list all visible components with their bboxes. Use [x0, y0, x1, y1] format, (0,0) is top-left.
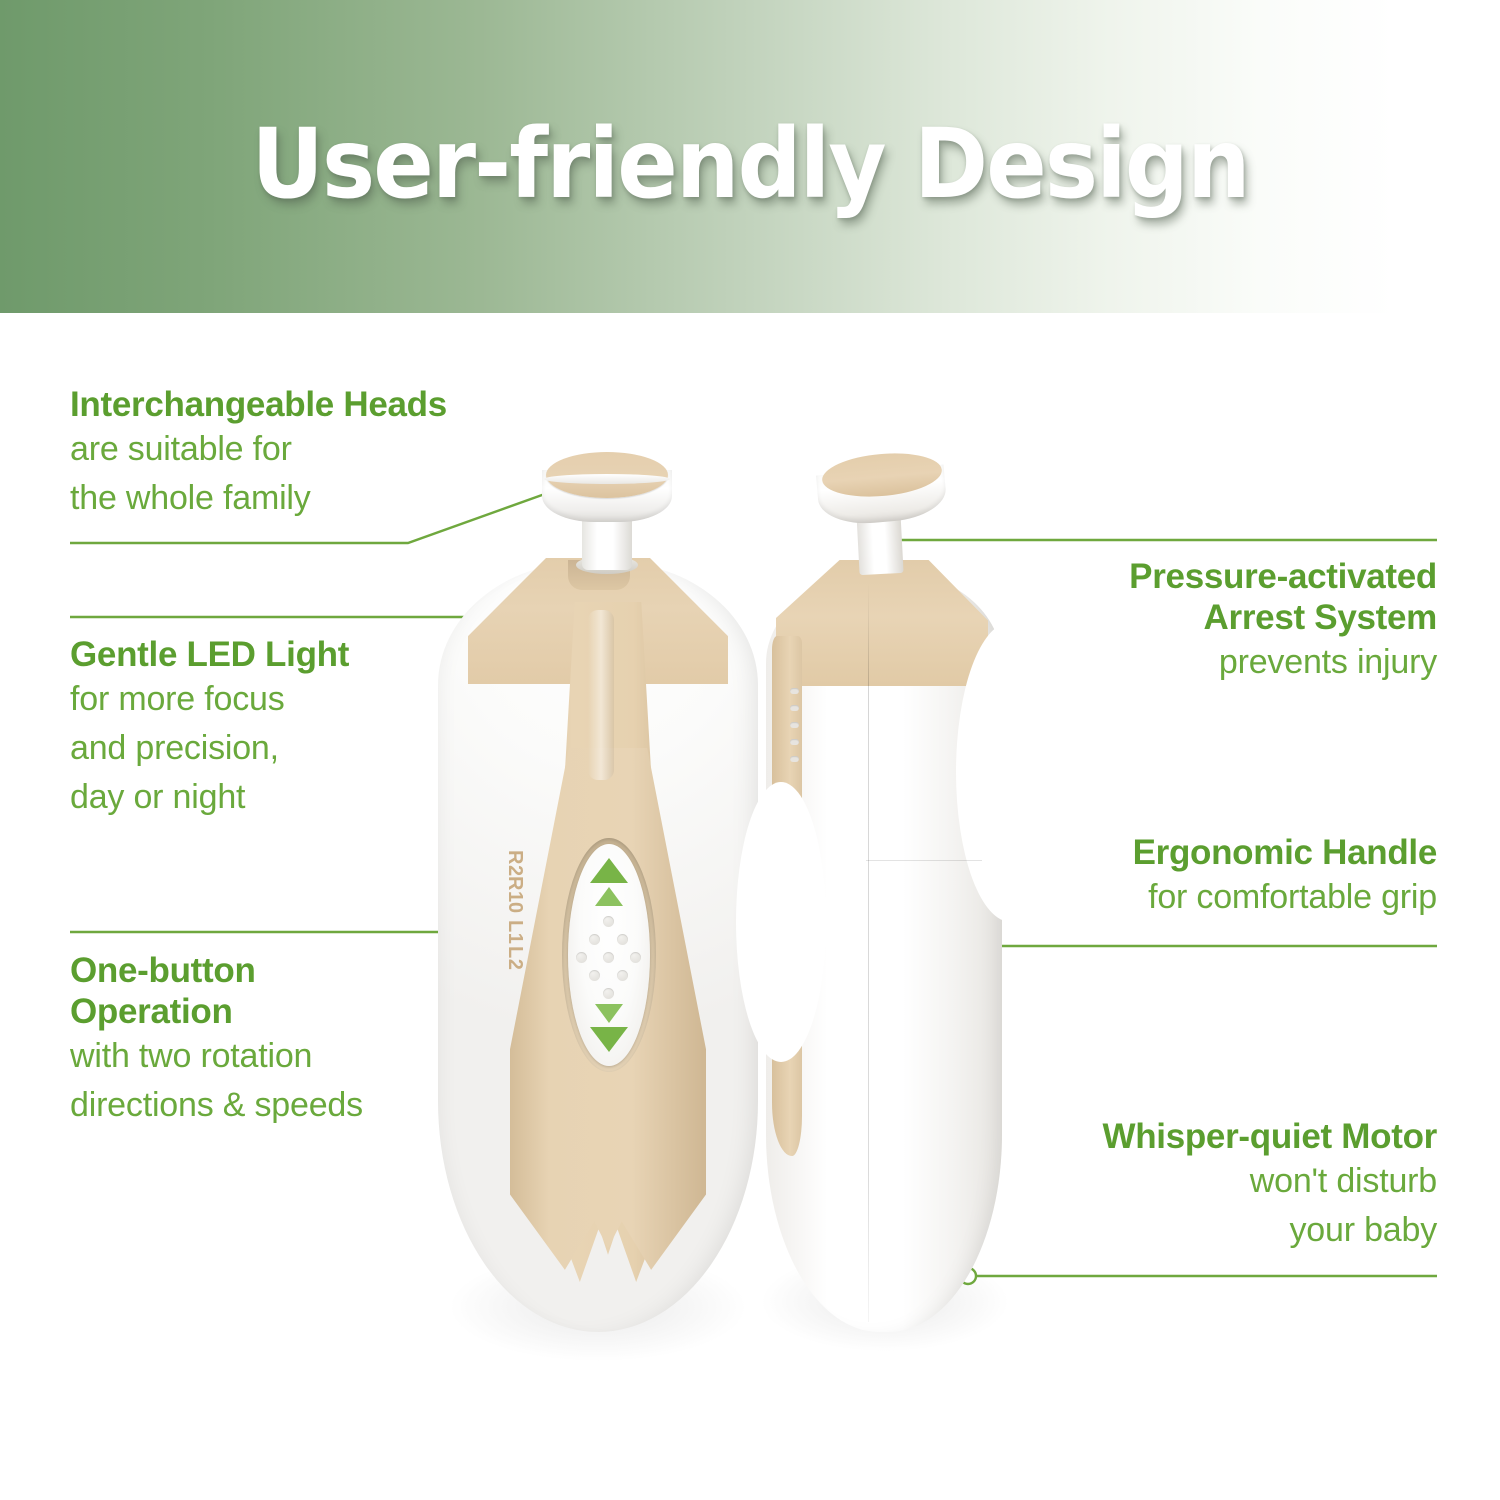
- callout-heading-line: Gentle LED Light: [70, 634, 349, 675]
- callout-interchangeable-heads: Interchangeable Heads are suitable for t…: [70, 384, 447, 523]
- side-split-line: [866, 860, 982, 861]
- callout-body-line: with two rotation: [70, 1032, 363, 1081]
- speed-label-l1: L1: [503, 920, 526, 944]
- callout-body-line: and precision,: [70, 724, 349, 773]
- button-dimple: [630, 952, 641, 963]
- button-dimple: [617, 934, 628, 945]
- indicator-dot: [790, 688, 799, 694]
- speed-label-r2: R2: [503, 850, 526, 877]
- callout-body-line: the whole family: [70, 474, 447, 523]
- power-speed-button[interactable]: [568, 844, 650, 1066]
- button-dimple: [576, 952, 587, 963]
- indicator-dot: [790, 722, 799, 728]
- speed-label-l2: L2: [503, 946, 526, 970]
- page-title: User-friendly Design: [53, 108, 1448, 220]
- callout-gentle-led-light: Gentle LED Light for more focus and prec…: [70, 634, 349, 822]
- product-front-view: R2 R1 0 L1 L2: [438, 452, 758, 1332]
- indicator-dot: [790, 739, 799, 745]
- callout-body-line: are suitable for: [70, 425, 447, 474]
- arrow-up-large-icon[interactable]: [590, 858, 628, 883]
- side-waist-curve-right: [956, 622, 1066, 922]
- infographic-canvas: User-friendly Design R2 R1 0 L1 L2: [0, 0, 1500, 1500]
- callout-whisper-quiet-motor: Whisper-quiet Motor won't disturb your b…: [937, 1116, 1437, 1255]
- speed-label-0: 0: [503, 902, 526, 914]
- side-seam-line: [868, 582, 869, 1322]
- callout-body-line: won't disturb: [937, 1157, 1437, 1206]
- side-waist-curve-left: [736, 782, 826, 1062]
- callout-heading-line: Operation: [70, 991, 363, 1032]
- callout-one-button-operation: One-button Operation with two rotation d…: [70, 950, 363, 1130]
- button-dimple: [589, 970, 600, 981]
- button-dimple: [603, 988, 614, 999]
- arrow-down-large-icon[interactable]: [590, 1027, 628, 1052]
- arrow-down-small-icon[interactable]: [595, 1004, 623, 1023]
- front-center-ridge: [588, 610, 614, 780]
- indicator-dot: [790, 756, 799, 762]
- callout-body-line: your baby: [937, 1206, 1437, 1255]
- button-dimple: [589, 934, 600, 945]
- button-dimple: [603, 952, 614, 963]
- callout-heading-line: Whisper-quiet Motor: [937, 1116, 1437, 1157]
- callout-body-line: for more focus: [70, 675, 349, 724]
- arrow-up-small-icon[interactable]: [595, 887, 623, 906]
- button-dimple: [617, 970, 628, 981]
- button-dimple: [603, 916, 614, 927]
- callout-body-line: directions & speeds: [70, 1081, 363, 1130]
- indicator-dot: [790, 705, 799, 711]
- callout-heading-line: Pressure-activated: [937, 556, 1437, 597]
- front-head-collar-rim: [544, 474, 670, 484]
- callout-heading-line: One-button: [70, 950, 363, 991]
- callout-heading-line: Interchangeable Heads: [70, 384, 447, 425]
- callout-body-line: day or night: [70, 773, 349, 822]
- speed-label-r1: R1: [503, 876, 526, 903]
- side-indicator-dots: [790, 688, 808, 808]
